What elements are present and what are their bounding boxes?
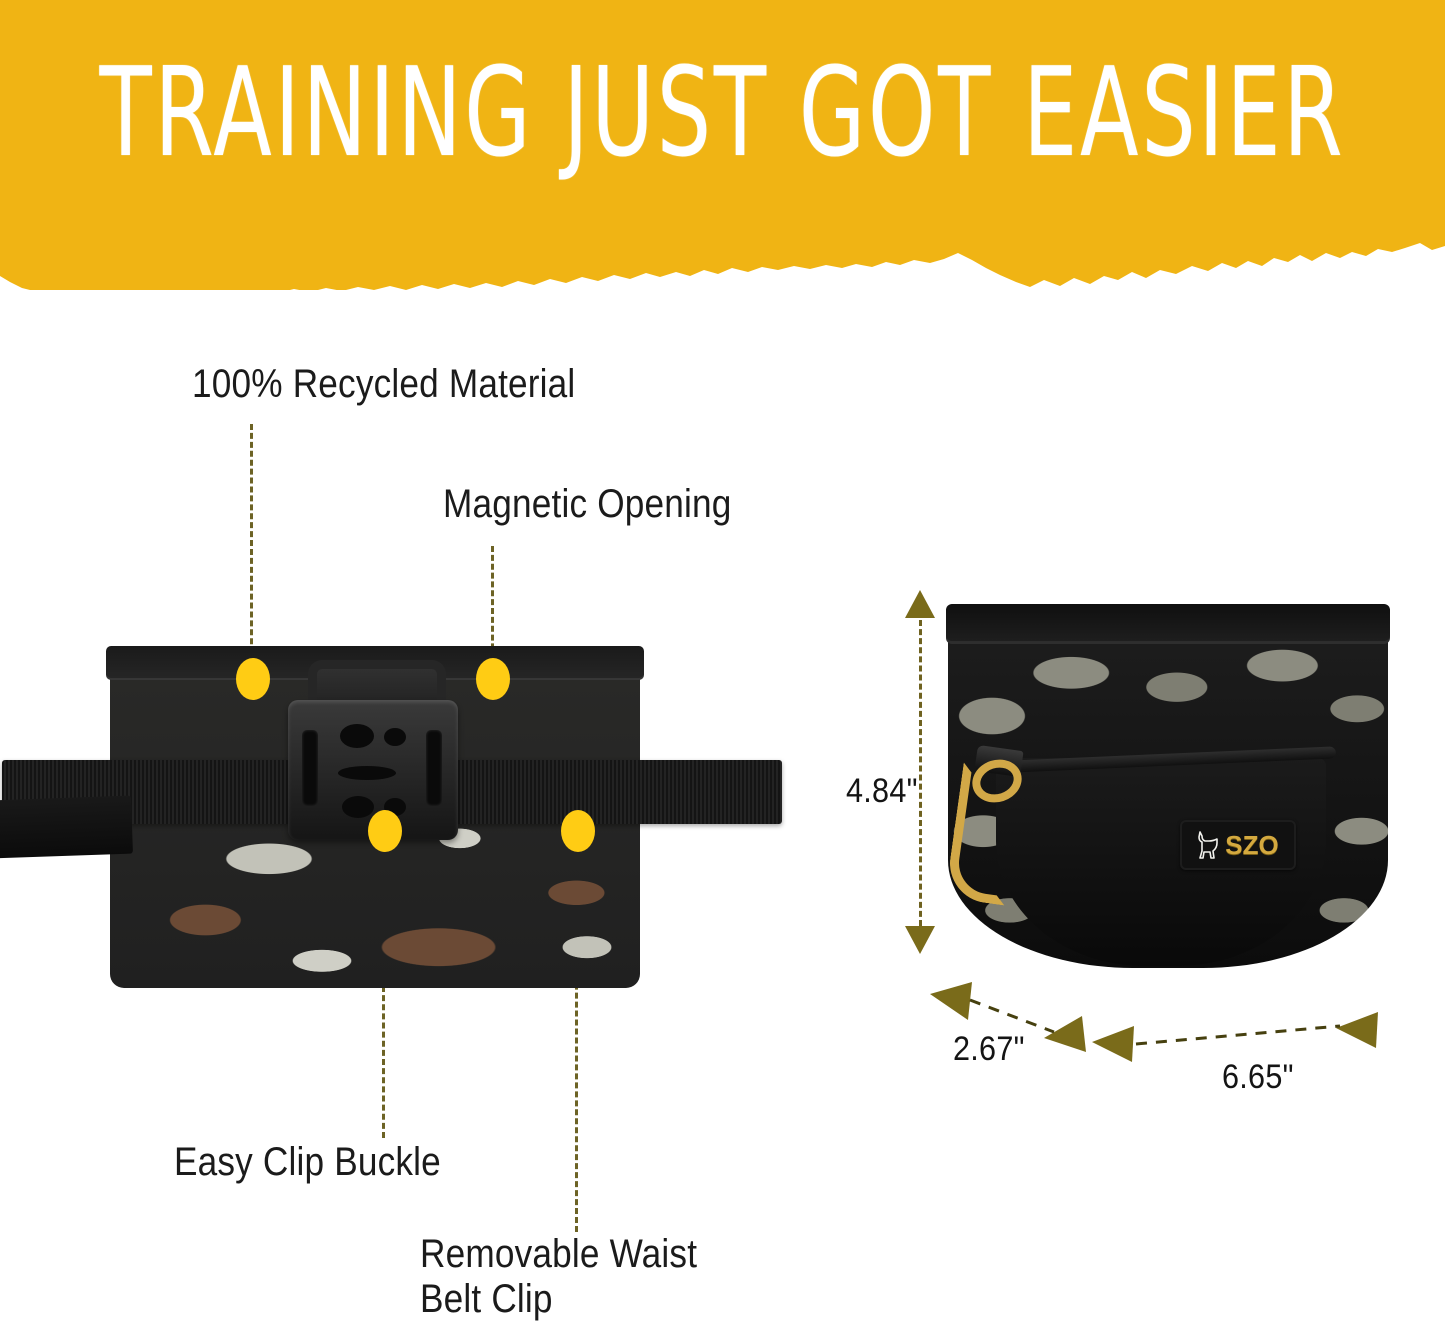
depth-dimension-label: 2.67" xyxy=(953,1030,1025,1069)
callout-label-magnetic-opening: Magnetic Opening xyxy=(443,482,732,527)
annotation-dot-removable-waist-belt-clip xyxy=(561,810,595,852)
callout-label-removable-waist-belt-clip: Removable Waist Belt Clip xyxy=(420,1232,697,1322)
brand-logo-patch: SZO xyxy=(1180,820,1296,870)
product-infographic: TRAINING JUST GOT EASIER 100% Recycled M… xyxy=(0,0,1445,1339)
annotation-dot-magnetic-opening xyxy=(476,658,510,700)
page-title: TRAINING JUST GOT EASIER xyxy=(51,52,1395,175)
dog-silhouette-icon xyxy=(1197,831,1219,859)
product-image-front-view: SZO xyxy=(948,608,1388,968)
height-dimension-label: 4.84" xyxy=(846,772,918,811)
brand-logo-text: SZO xyxy=(1225,830,1278,861)
waist-belt-tail xyxy=(0,796,133,859)
header-banner: TRAINING JUST GOT EASIER xyxy=(0,0,1445,290)
height-dimension-line xyxy=(919,620,922,926)
callout-label-recycled-material: 100% Recycled Material xyxy=(192,362,575,407)
width-dimension-label: 6.65" xyxy=(1222,1058,1294,1097)
annotation-dot-easy-clip-buckle xyxy=(368,810,402,852)
leader-line-recycled-material xyxy=(250,424,253,671)
callout-label-easy-clip-buckle: Easy Clip Buckle xyxy=(174,1140,441,1185)
annotation-dot-recycled-material xyxy=(236,658,270,700)
pouch-front-top-binding xyxy=(946,604,1390,644)
